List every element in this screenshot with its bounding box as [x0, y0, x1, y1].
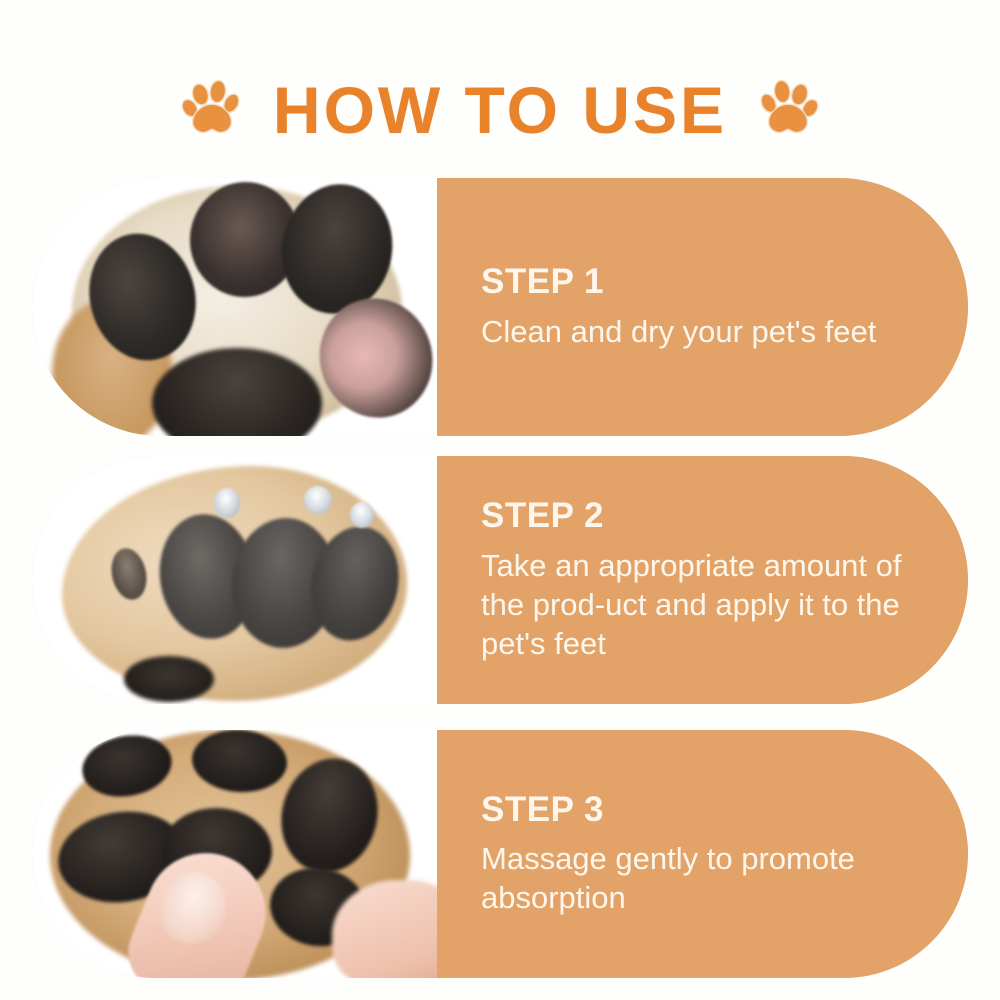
paw-print-icon: [181, 79, 243, 141]
step-card: STEP 2 Take an appropriate amount of the…: [32, 456, 968, 704]
dog-paw-side-image: [32, 456, 437, 704]
step-text-panel: STEP 2 Take an appropriate amount of the…: [437, 456, 968, 704]
page-title: HOW TO USE: [273, 77, 727, 143]
step-photo: [32, 178, 437, 436]
step-photo: [32, 456, 437, 704]
step-photo: [32, 730, 437, 978]
step-description: Massage gently to promote absorption: [481, 839, 910, 917]
dog-paw-underside-image: [32, 178, 437, 436]
step-label: STEP 1: [481, 263, 910, 302]
how-to-use-infographic: HOW TO USE: [0, 0, 1000, 1000]
paw-print-icon: [757, 79, 819, 141]
header: HOW TO USE: [0, 62, 1000, 158]
step-card: STEP 3 Massage gently to promote absorpt…: [32, 730, 968, 978]
step-text-panel: STEP 1 Clean and dry your pet's feet: [437, 178, 968, 436]
step-text-panel: STEP 3 Massage gently to promote absorpt…: [437, 730, 968, 978]
step-label: STEP 2: [481, 497, 910, 536]
step-label: STEP 3: [481, 791, 910, 830]
step-description: Clean and dry your pet's feet: [481, 312, 910, 351]
step-description: Take an appropriate amount of the prod-u…: [481, 546, 910, 663]
finger-massaging-paw-image: [32, 730, 437, 978]
step-card: STEP 1 Clean and dry your pet's feet: [32, 178, 968, 436]
